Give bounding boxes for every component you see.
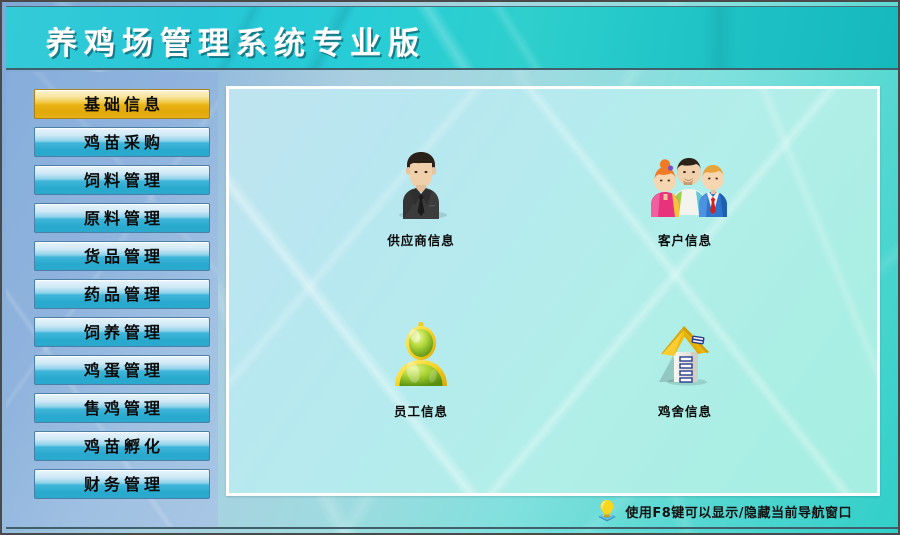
- icon-label-employee-info: 员工信息: [394, 401, 448, 420]
- icon-tile-chicken-house-info[interactable]: 鸡舍信息: [553, 282, 817, 453]
- page-title: 养鸡场管理系统专业版: [46, 18, 426, 63]
- businessman-icon: [383, 145, 459, 221]
- sidebar-item-goods-management[interactable]: 货品管理: [34, 241, 210, 271]
- sidebar-nav-list: 基础信息 鸡苗采购 饲料管理 原料管理 货品管理 药品管理 饲养管理 鸡蛋管理 …: [34, 89, 212, 507]
- icon-grid: 供应商信息: [229, 89, 877, 493]
- icon-label-supplier-info: 供应商信息: [387, 230, 455, 249]
- people-group-icon: [647, 145, 723, 221]
- title-bar: 养鸡场管理系统专业版: [6, 6, 898, 70]
- icon-tile-employee-info[interactable]: 员工信息: [289, 282, 553, 453]
- sidebar-item-chick-purchase[interactable]: 鸡苗采购: [34, 127, 210, 157]
- sidebar-item-chick-hatching[interactable]: 鸡苗孵化: [34, 431, 210, 461]
- sidebar: 基础信息 鸡苗采购 饲料管理 原料管理 货品管理 药品管理 饲养管理 鸡蛋管理 …: [6, 72, 218, 527]
- lightbulb-icon: [595, 498, 619, 524]
- sidebar-item-chicken-sales[interactable]: 售鸡管理: [34, 393, 210, 423]
- application-window: 养鸡场管理系统专业版 基础信息 鸡苗采购 饲料管理 原料管理 货品管理 药品管理…: [0, 0, 900, 535]
- sidebar-item-material-management[interactable]: 原料管理: [34, 203, 210, 233]
- person-silhouette-icon: [383, 316, 459, 392]
- icon-tile-customer-info[interactable]: 客户信息: [553, 111, 817, 282]
- sidebar-item-breeding-management[interactable]: 饲养管理: [34, 317, 210, 347]
- sidebar-item-feed-management[interactable]: 饲料管理: [34, 165, 210, 195]
- status-bar: 使用F8键可以显示/隐藏当前导航窗口: [6, 495, 898, 529]
- icon-label-customer-info: 客户信息: [658, 230, 712, 249]
- house-icon: [647, 316, 723, 392]
- sidebar-item-egg-management[interactable]: 鸡蛋管理: [34, 355, 210, 385]
- icon-tile-supplier-info[interactable]: 供应商信息: [289, 111, 553, 282]
- main-content-panel: 供应商信息: [226, 86, 880, 496]
- status-hint-text: 使用F8键可以显示/隐藏当前导航窗口: [625, 502, 852, 521]
- icon-label-chicken-house-info: 鸡舍信息: [658, 401, 712, 420]
- sidebar-item-basic-info[interactable]: 基础信息: [34, 89, 210, 119]
- sidebar-item-medicine-management[interactable]: 药品管理: [34, 279, 210, 309]
